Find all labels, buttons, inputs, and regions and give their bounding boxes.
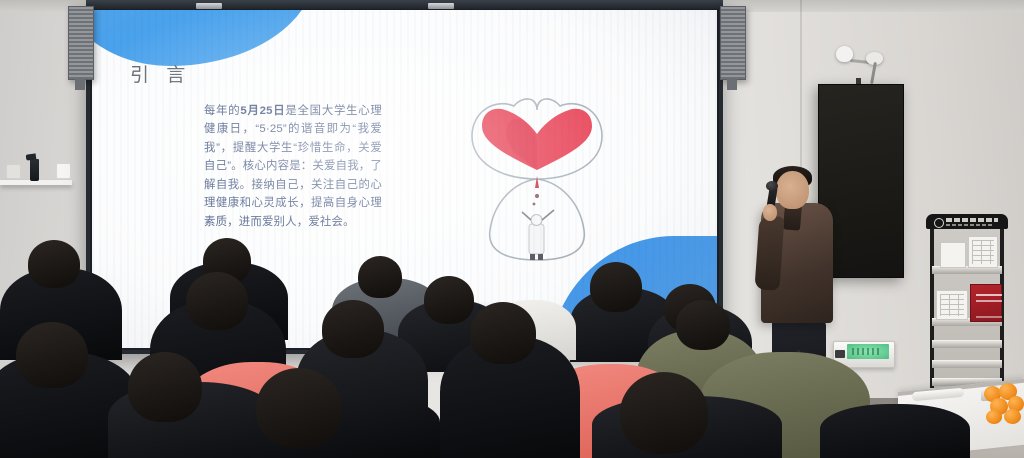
tangerine[interactable] [1004, 409, 1021, 424]
slide-body-text: 每年的5月25日是全国大学生心理健康日，“5·25”的谐音即为“我爱我”，提醒大… [204, 102, 382, 231]
slide-body-rest: 是全国大学生心理健康日，“5·25”的谐音即为“我爱我”，提醒大学生“珍惜生命，… [204, 105, 382, 228]
monitor-badge [835, 350, 845, 358]
figure-arm [542, 210, 554, 220]
tangerine[interactable] [986, 410, 1002, 424]
audience-head [128, 352, 202, 422]
audience-head [322, 300, 384, 358]
audience-head [256, 368, 342, 448]
audience-head [590, 262, 642, 312]
wall-switch[interactable] [56, 163, 71, 179]
audience-head [186, 272, 248, 330]
institution-name-subtitle [946, 224, 994, 226]
audience-head [424, 276, 474, 324]
slide-blob-top-left [92, 10, 316, 66]
audience-head [620, 372, 708, 454]
presenter-hand [763, 204, 777, 221]
list-item[interactable] [940, 242, 966, 268]
audience-person [820, 404, 970, 458]
figure-body [529, 224, 544, 254]
figure-head [531, 215, 542, 226]
environment-monitor-display [847, 344, 889, 359]
audience-head [676, 300, 730, 350]
hourglass-neck-drip [535, 176, 539, 188]
slide-body-lead: 每年的 [204, 105, 240, 117]
falling-drop [535, 194, 539, 198]
spray-bottle [30, 159, 39, 181]
slide-title: 引 言 [130, 60, 191, 87]
hourglass-heart-illustration [442, 84, 632, 274]
lecture-hall-screenshot: 引 言 每年的5月25日是全国大学生心理健康日，“5·25”的谐音即为“我爱我”… [0, 0, 1024, 458]
rack-shelf [932, 360, 1002, 368]
screen-rail-clip [196, 3, 222, 9]
audience-head [16, 322, 88, 388]
speaker-foot-right [727, 78, 737, 90]
institution-logo-icon [934, 218, 944, 228]
wall-speaker-right [720, 6, 746, 80]
rack-shelf [932, 340, 1002, 348]
figure-leg [538, 254, 543, 260]
slide-body-date: 5月25日 [240, 105, 285, 117]
audience-head [470, 302, 536, 364]
figure-leg [530, 254, 535, 260]
audience-head [28, 240, 80, 288]
wall-speaker-left [68, 6, 94, 80]
presenter-arm [754, 215, 784, 291]
list-item[interactable] [970, 284, 1002, 322]
screen-top-rail [86, 0, 723, 9]
wall-switch-secondary[interactable] [6, 164, 21, 179]
list-item[interactable] [968, 236, 998, 268]
falling-drop [533, 203, 536, 206]
microphone-head [766, 181, 778, 191]
institution-name-plate [946, 218, 998, 222]
screen-rail-clip [428, 3, 454, 9]
presenter-head [776, 171, 809, 209]
ceiling-lamp-a [836, 46, 853, 62]
audience-head [358, 256, 402, 298]
figure-arm [522, 212, 531, 220]
speaker-foot-left [75, 78, 85, 90]
list-item[interactable] [936, 290, 968, 320]
